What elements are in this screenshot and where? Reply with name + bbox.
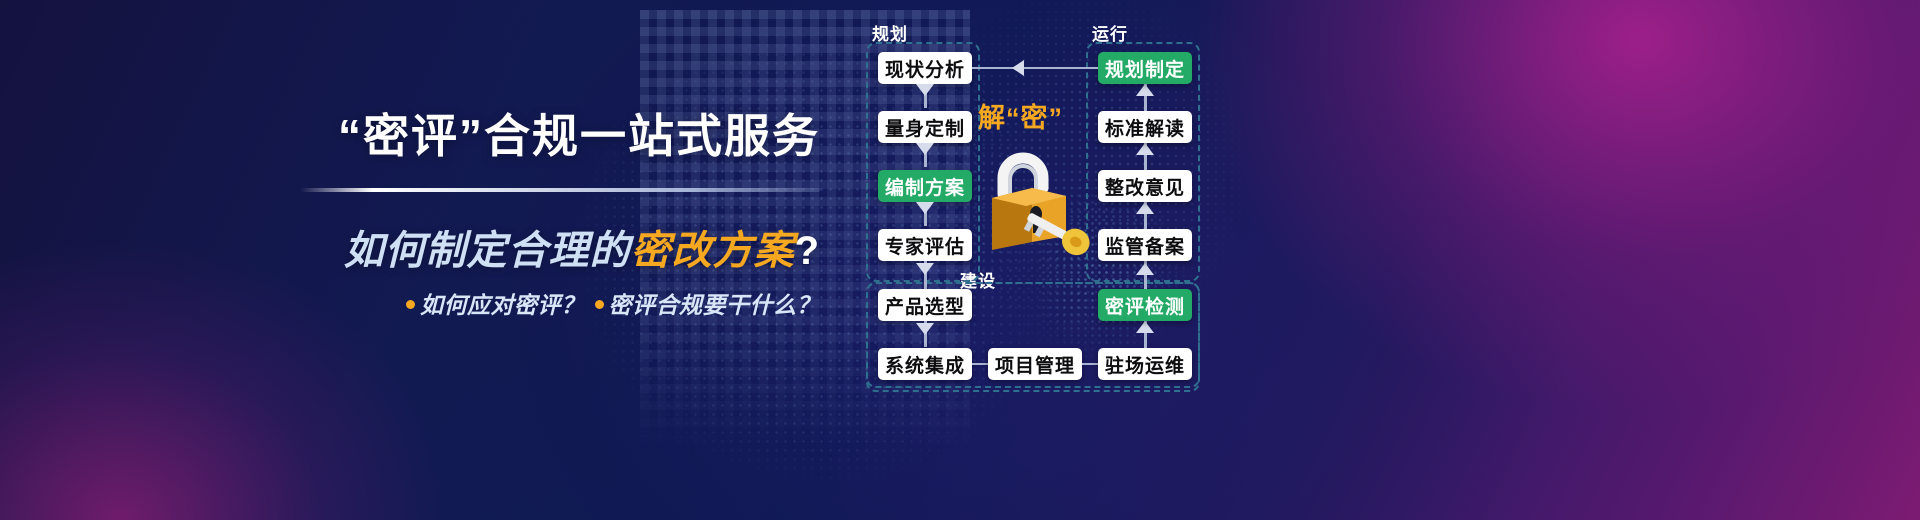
arrow-down-icon [916,143,934,155]
arrow-down-icon [916,202,934,214]
title-divider [300,188,820,192]
process-flow-diagram: 规划 运行 建设 现状分析 量身定制 编制方案 专家评估 产品选型 系统集成 项… [860,0,1920,520]
subtitle-prefix: 如何制定合理的 [344,229,631,273]
flow-node-construction-right-0[interactable]: 监管备案 [1098,229,1192,261]
flow-node-operation-2[interactable]: 整改意见 [1098,170,1192,202]
arrow-up-icon [1136,202,1154,214]
flow-node-operation-0[interactable]: 规划制定 [1098,52,1192,84]
flow-node-construction-left-0[interactable]: 产品选型 [878,289,972,321]
flow-node-construction-right-1[interactable]: 密评检测 [1098,289,1192,321]
flow-node-planning-2[interactable]: 编制方案 [878,170,972,202]
connector-line-top [972,67,1098,69]
flow-node-planning-0[interactable]: 现状分析 [878,52,972,84]
flow-node-operation-1[interactable]: 标准解读 [1098,111,1192,143]
arrow-down-icon [916,84,934,96]
headline-block: “密评”合规一站式服务 如何制定合理的密改方案? 如何应对密评？密评合规要干什么… [0,0,880,520]
flow-node-construction-left-1[interactable]: 系统集成 [878,348,972,380]
arrow-up-icon [1136,143,1154,155]
arrow-up-icon [1136,321,1154,333]
arrow-down-icon [916,263,934,275]
flow-node-planning-1[interactable]: 量身定制 [878,111,972,143]
bullet-dot-icon [406,300,415,309]
page-title: “密评”合规一站式服务 [338,100,820,166]
flow-node-planning-3[interactable]: 专家评估 [878,229,972,261]
lock-caption: 解“密” [978,96,1063,135]
arrow-up-icon [1136,263,1154,275]
arrow-left-icon [1012,60,1024,76]
bullet-item-0: 如何应对密评？ [420,292,585,318]
arrow-down-icon [916,323,934,335]
flow-node-construction-bottom-0[interactable]: 项目管理 [988,348,1082,380]
arrow-up-icon [1136,84,1154,96]
flow-node-construction-bottom-1[interactable]: 驻场运维 [1098,348,1192,380]
bullet-item-1: 密评合规要干什么？ [609,292,821,318]
padlock-and-key-icon [970,138,1090,258]
bullet-list: 如何应对密评？密评合规要干什么？ [406,286,820,320]
subtitle-highlight: 密改方案 [631,229,795,273]
subtitle: 如何制定合理的密改方案? [344,218,820,276]
subtitle-question-mark: ? [795,229,820,273]
bullet-dot-icon [595,300,604,309]
promo-banner: “密评”合规一站式服务 如何制定合理的密改方案? 如何应对密评？密评合规要干什么… [0,0,1920,520]
